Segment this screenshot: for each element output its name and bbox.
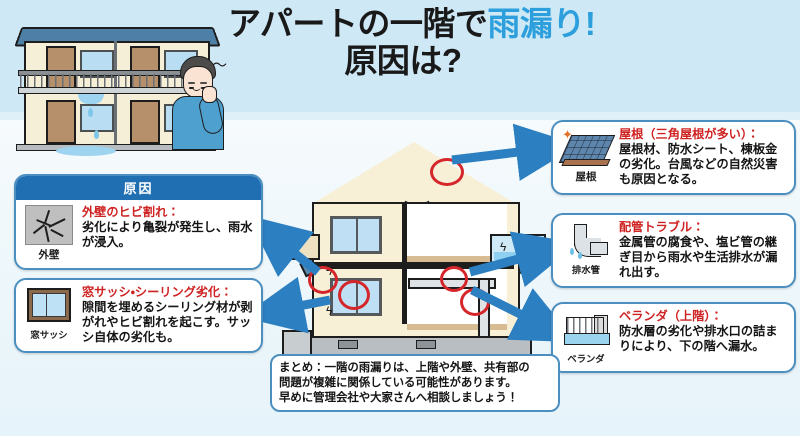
house-balcony-right: [490, 234, 546, 264]
icon-column: ベランダ: [559, 309, 613, 365]
water-drip-2: [94, 130, 99, 139]
left-panel-header: 原因: [16, 176, 261, 200]
pipe-horizontal: [590, 242, 608, 255]
house-eave-left: [284, 234, 320, 260]
house-cross-section: ϟ ϟ ϟ: [282, 138, 544, 363]
title-text-main: アパートの一階で: [228, 5, 487, 42]
card-body-text: 防水層の劣化や排水口の詰まりにより、下の階へ漏水。: [619, 324, 787, 354]
card-headline: 配管トラブル：: [619, 220, 787, 235]
balcony-icon: [562, 309, 610, 349]
card-headline: 屋根（三角屋根が多い）：: [619, 127, 787, 142]
card-body-text: 屋根材、防水シート、棟板金の劣化。台風などの自然災害も原因となる。: [619, 142, 787, 187]
card-body: ベランダ ベランダ（上階）： 防水層の劣化や排水口の詰まりにより、下の階へ漏水。: [553, 304, 794, 371]
card-roof[interactable]: ✦ 屋根 屋根（三角屋根が多い）： 屋根材、防水シート、棟板金の劣化。台風などの…: [551, 120, 796, 195]
infographic-root: アパートの一階で雨漏り! 原因は? 〜: [0, 0, 800, 436]
roof-edge: [561, 159, 610, 166]
icon-column: 外壁: [22, 205, 76, 262]
balcony-floor-water: [564, 333, 610, 345]
wall-surface: [25, 205, 73, 245]
card-body-text: 劣化により亀裂が発生し、雨水が浸入。: [82, 220, 254, 250]
roof-marker: [430, 158, 464, 186]
card-body: 排水管 配管トラブル： 金属管の腐食や、塩ビ管の継ぎ目から雨水や生活排水が漏れ出…: [553, 215, 794, 286]
balcony-art: [564, 315, 608, 345]
card-drain-pipe[interactable]: 排水管 配管トラブル： 金属管の腐食や、塩ビ管の継ぎ目から雨水や生活排水が漏れ出…: [551, 213, 796, 288]
icon-label: 排水管: [572, 262, 600, 276]
water-drip-1: [88, 108, 93, 117]
card-text: 外壁のヒビ割れ： 劣化により亀裂が発生し、雨水が浸入。: [82, 205, 254, 262]
card-body: 外壁 外壁のヒビ割れ： 劣化により亀裂が発生し、雨水が浸入。: [16, 200, 261, 268]
page-title: アパートの一階で雨漏り! 原因は?: [228, 6, 578, 80]
wall-crack-lower: ϟ: [326, 306, 332, 316]
card-text: ベランダ（上階）： 防水層の劣化や排水口の詰まりにより、下の階へ漏水。: [619, 309, 787, 365]
title-line-2: 原因は?: [228, 43, 578, 80]
window-marker: [338, 280, 370, 310]
apartment-door-1f-left: [46, 100, 76, 144]
pipe-art: [568, 224, 604, 256]
person-brow-right: [200, 82, 207, 84]
icon-column: 窓サッシ: [22, 285, 76, 345]
foundation-vent-left: [338, 340, 358, 349]
house-entry-steps: [282, 330, 312, 356]
icon-column: 排水管: [559, 220, 613, 280]
cracked-wall-icon: [25, 205, 73, 245]
balcony-crack: ϟ: [500, 242, 506, 252]
house-window-2f: [330, 216, 382, 254]
card-balcony[interactable]: ベランダ ベランダ（上階）： 防水層の劣化や排水口の詰まりにより、下の階へ漏水。: [551, 302, 796, 373]
pipe-joint-marker: [440, 266, 468, 292]
summary-line-2: 問題が複雑に関係している可能性があります。: [279, 376, 551, 391]
icon-column: ✦ 屋根: [559, 127, 613, 187]
card-text: 屋根（三角屋根が多い）： 屋根材、防水シート、棟板金の劣化。台風などの自然災害も…: [619, 127, 787, 187]
person-brow-left: [188, 82, 195, 84]
icon-label: 屋根: [576, 169, 597, 184]
icon-label: 外壁: [39, 247, 60, 262]
roof-tiles-icon: ✦: [562, 127, 610, 167]
foundation-vent-right: [416, 340, 436, 349]
card-body-text: 隙間を埋めるシーリング材が剥がれやヒビ割れを起こす。サッシ自体の劣化も。: [82, 300, 254, 345]
pipe-drip-2: [578, 252, 582, 259]
worried-person: 〜: [168, 56, 230, 148]
window-sash-icon: [25, 285, 73, 325]
card-exterior-wall[interactable]: 原因 外壁 外壁のヒビ割れ： 劣化により亀裂が発生し、雨水が浸入: [14, 174, 263, 270]
summary-box[interactable]: まとめ：一階の雨漏りは、上階や外壁、共有部の 問題が複雑に関係している可能性があ…: [270, 354, 560, 412]
drain-pipe-marker: [460, 288, 490, 316]
card-body: ✦ 屋根 屋根（三角屋根が多い）： 屋根材、防水シート、棟板金の劣化。台風などの…: [553, 122, 794, 193]
house-floor-1f: [407, 324, 507, 330]
card-headline: 外壁のヒビ割れ：: [82, 205, 254, 220]
window-glass-right: [46, 293, 66, 317]
title-line-1: アパートの一階で雨漏り!: [228, 6, 578, 43]
apartment-window-1f-left: [80, 104, 114, 132]
card-headline: ベランダ（上階）：: [619, 309, 787, 324]
person-hand: [202, 86, 217, 103]
house-gable: [312, 142, 516, 204]
house-partition-wall: [402, 204, 407, 324]
summary-line-1: まとめ：一階の雨漏りは、上階や外壁、共有部の: [279, 361, 551, 376]
title-text-highlight: 雨漏り!: [487, 5, 595, 42]
card-window-sash[interactable]: 窓サッシ 窓サッシ・シーリング劣化： 隙間を埋めるシーリング材が剥がれやヒビ割れ…: [14, 278, 263, 353]
pipe-drip-1: [570, 248, 574, 255]
exterior-wall-marker: [308, 266, 338, 294]
card-headline: 窓サッシ・シーリング劣化：: [82, 285, 254, 300]
card-body-text: 金属管の腐食や、塩ビ管の継ぎ目から雨水や生活排水が漏れ出す。: [619, 235, 787, 280]
card-body: 窓サッシ 窓サッシ・シーリング劣化： 隙間を埋めるシーリング材が剥がれやヒビ割れ…: [16, 280, 261, 351]
icon-label: ベランダ: [567, 351, 604, 365]
drain-pipe-icon: [562, 220, 610, 260]
card-text: 配管トラブル： 金属管の腐食や、塩ビ管の継ぎ目から雨水や生活排水が漏れ出す。: [619, 220, 787, 280]
water-puddle: [56, 146, 116, 156]
icon-label: 窓サッシ: [30, 327, 67, 341]
apartment-door-1f-right: [130, 100, 160, 144]
card-text: 窓サッシ・シーリング劣化： 隙間を埋めるシーリング材が剥がれやヒビ割れを起こす。…: [82, 285, 254, 345]
window-frame: [27, 288, 71, 322]
summary-line-3: 早めに管理会社や大家さんへ相談しましょう！: [279, 391, 551, 406]
house-floor-slab: [314, 262, 514, 269]
